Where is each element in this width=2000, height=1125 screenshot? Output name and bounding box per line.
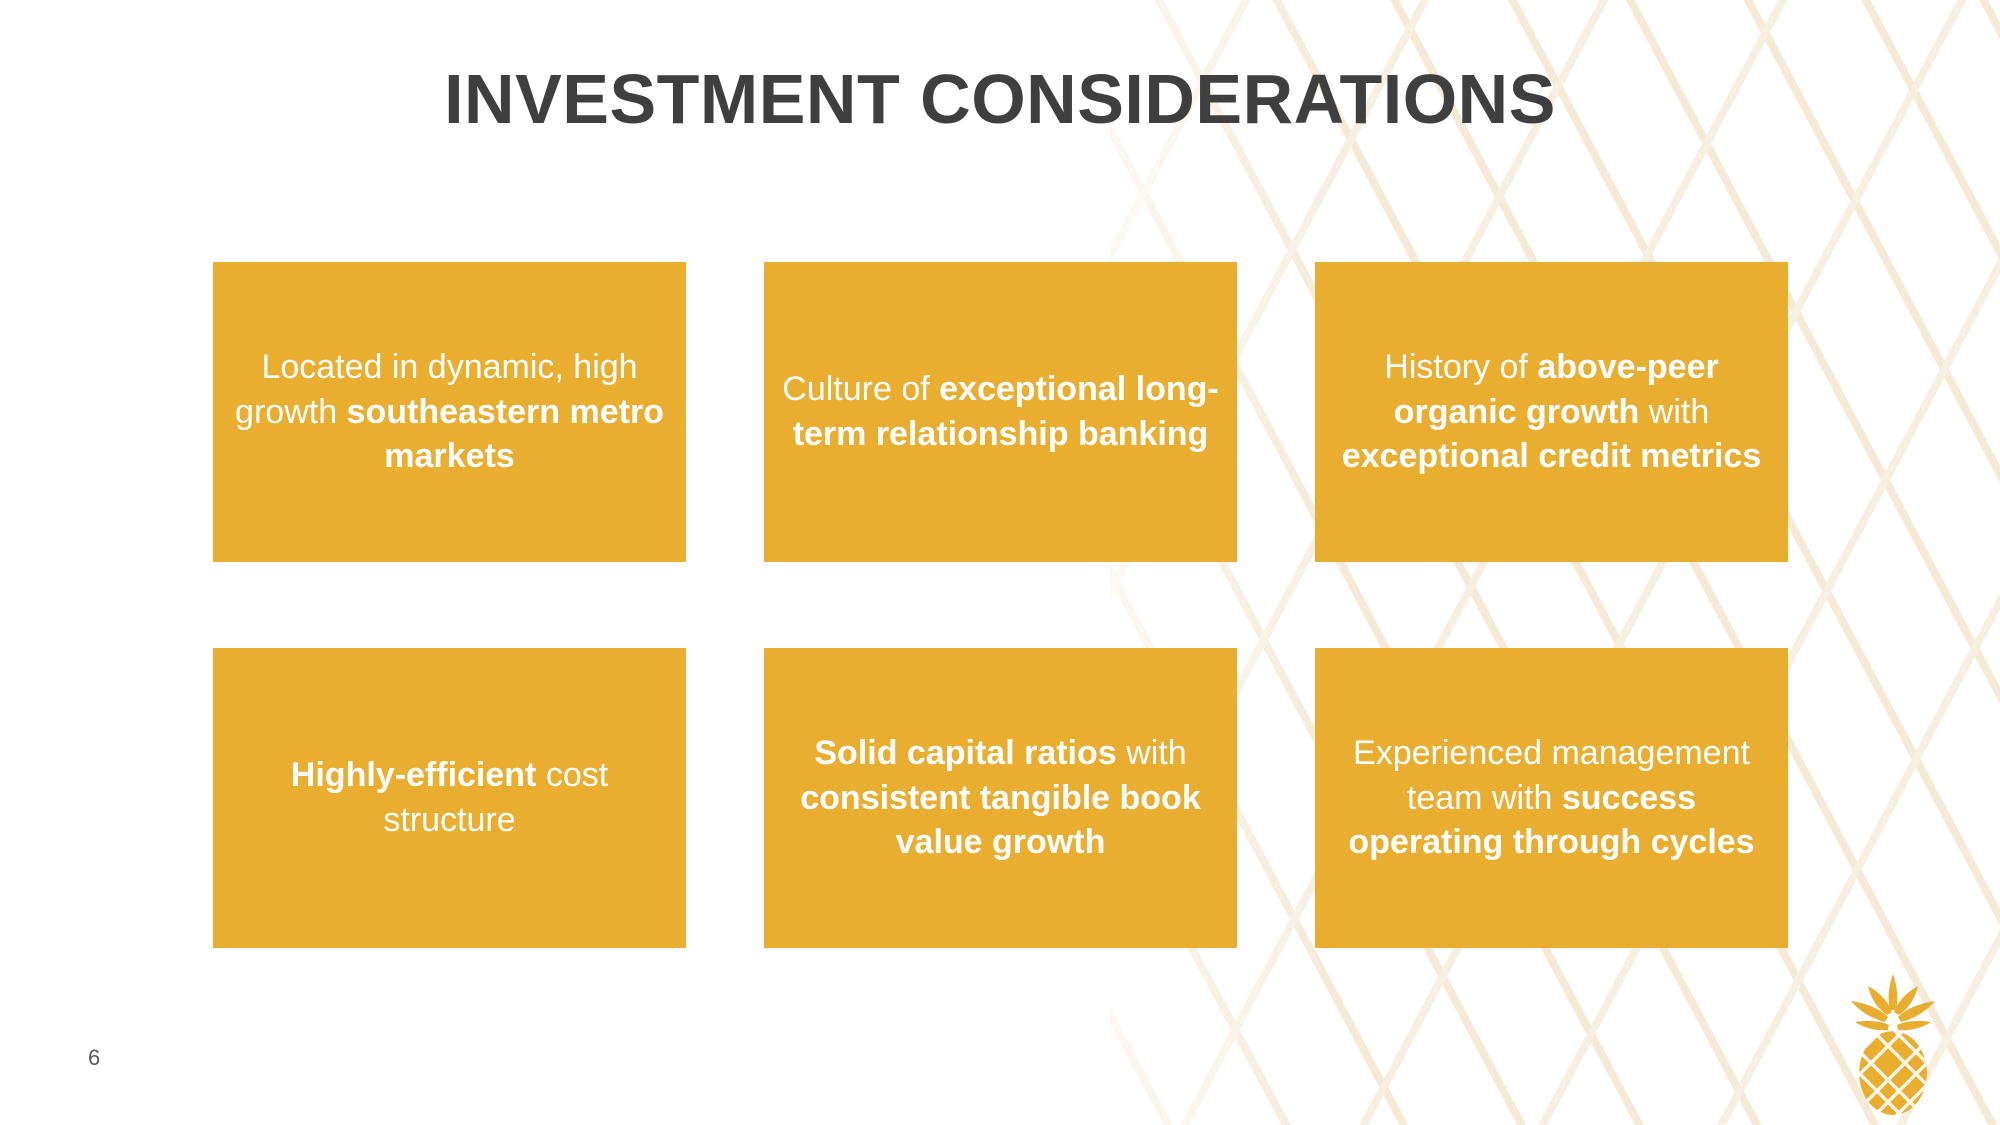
consideration-card-1[interactable]: Located in dynamic, high growth southeas… [213, 262, 686, 562]
page-number: 6 [88, 1045, 100, 1071]
card-2-text: Culture of exceptional long-term relatio… [780, 367, 1221, 456]
consideration-card-5[interactable]: Solid capital ratios with consistent tan… [764, 648, 1237, 948]
card-4-text: Highly-efficient cost structure [229, 753, 670, 842]
consideration-card-2[interactable]: Culture of exceptional long-term relatio… [764, 262, 1237, 562]
consideration-card-grid: Located in dynamic, high growth southeas… [213, 262, 1788, 948]
card-6-text: Experienced management team with success… [1331, 731, 1772, 865]
card-1-text: Located in dynamic, high growth southeas… [229, 345, 670, 479]
card-5-text: Solid capital ratios with consistent tan… [780, 731, 1221, 865]
card-3-text: History of above-peer organic growth wit… [1331, 345, 1772, 479]
consideration-card-3[interactable]: History of above-peer organic growth wit… [1315, 262, 1788, 562]
consideration-card-6[interactable]: Experienced management team with success… [1315, 648, 1788, 948]
slide-canvas: INVESTMENT CONSIDERATIONS Located in dyn… [0, 0, 2000, 1125]
page-title: INVESTMENT CONSIDERATIONS [0, 58, 2000, 141]
pineapple-logo-icon [1838, 970, 1948, 1115]
consideration-card-4[interactable]: Highly-efficient cost structure [213, 648, 686, 948]
